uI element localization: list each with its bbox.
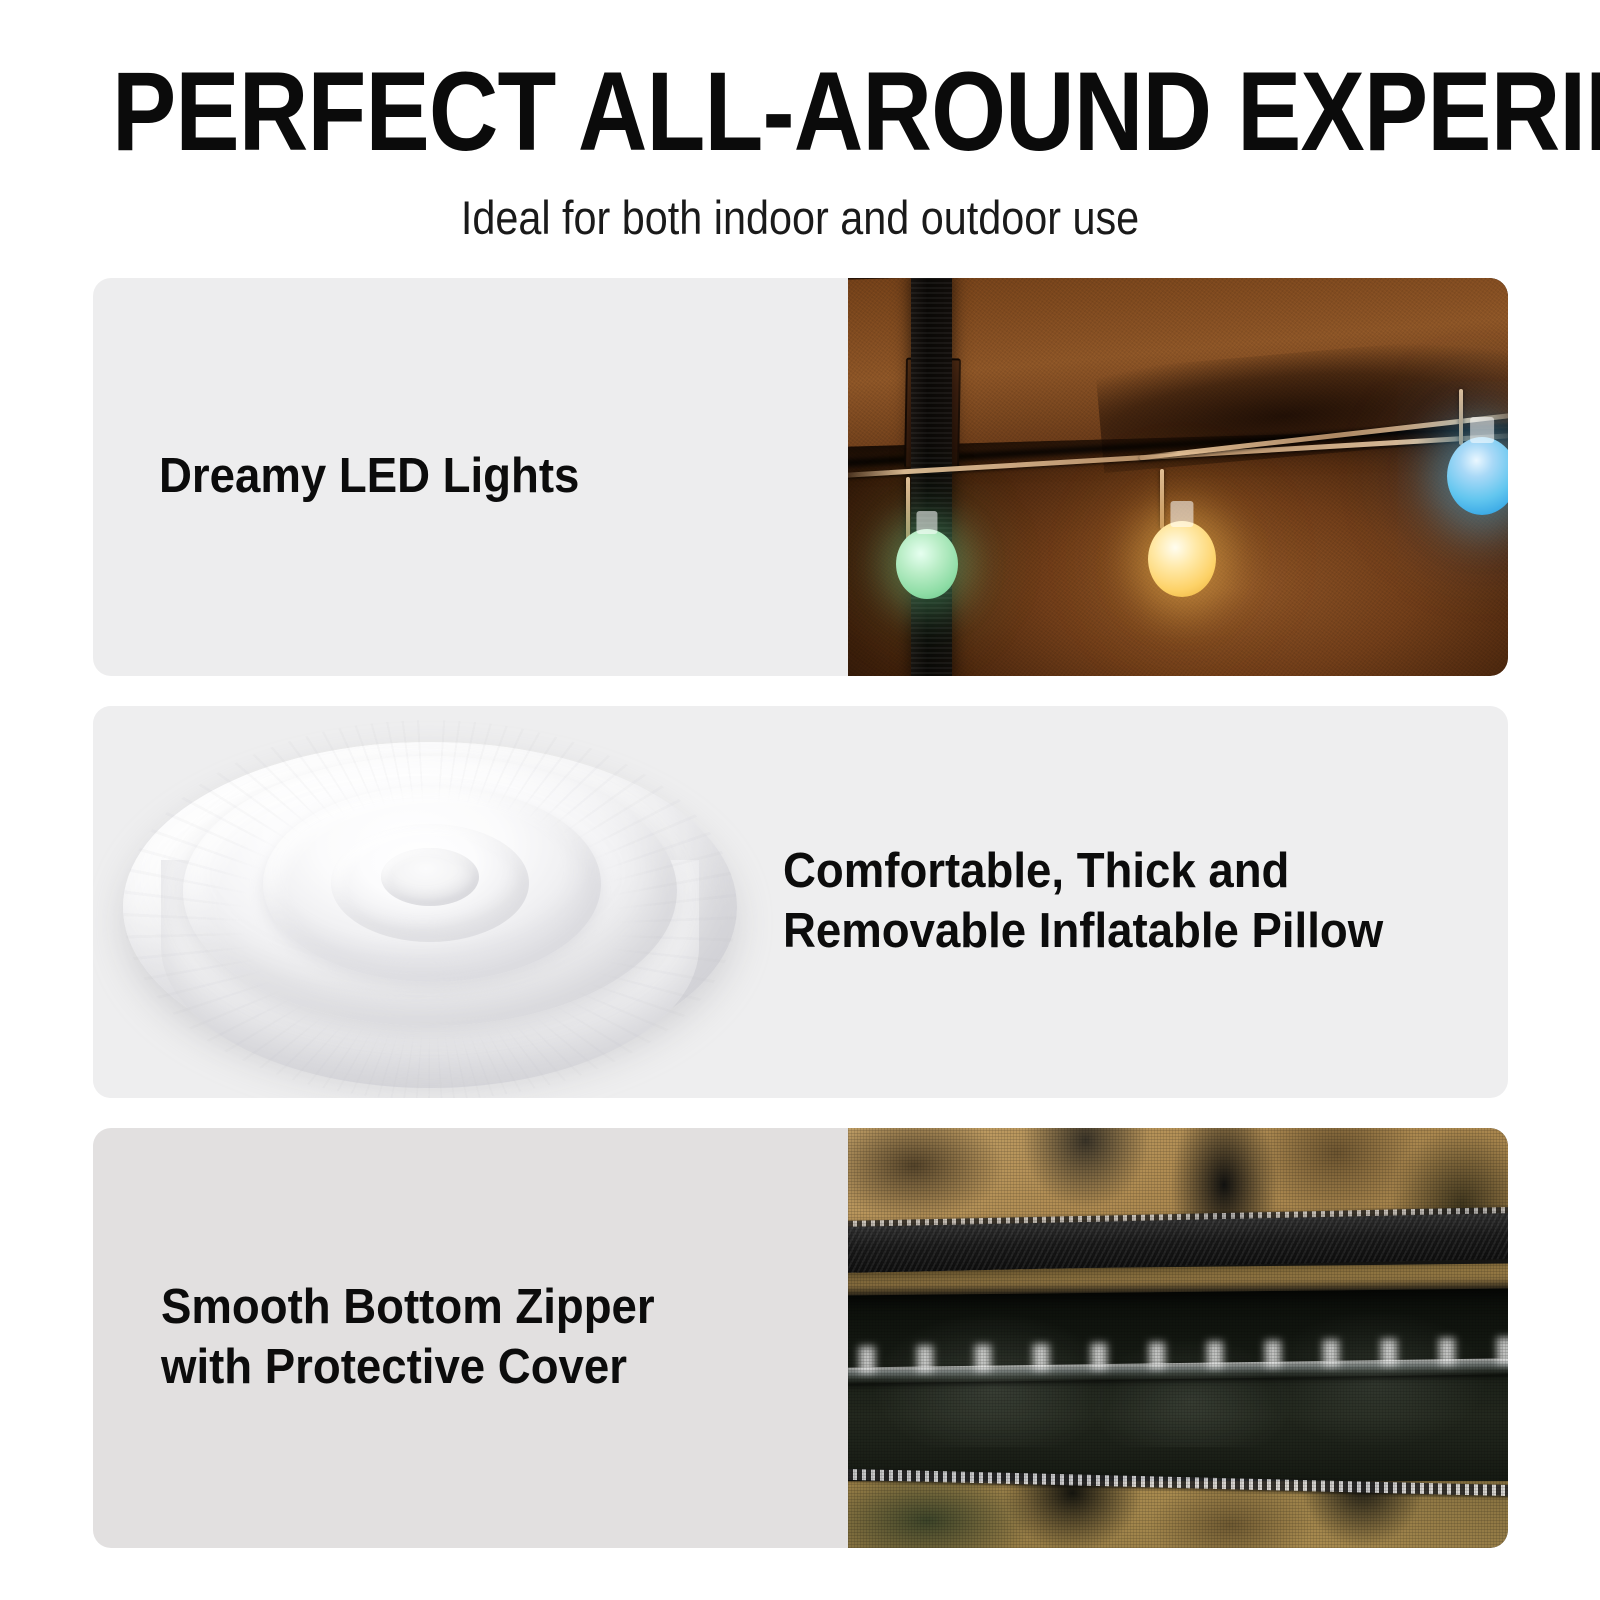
led-string-lights-photo <box>848 278 1508 676</box>
infographic-page: PERFECT ALL-AROUND EXPERIENCE Ideal for … <box>0 0 1600 1600</box>
pillow-scene <box>93 706 793 1098</box>
header: PERFECT ALL-AROUND EXPERIENCE Ideal for … <box>0 0 1600 245</box>
fabric-weave-texture <box>848 1128 1508 1548</box>
led-scene <box>848 278 1508 676</box>
blue-bulb <box>1447 437 1508 515</box>
bulb-lead-blue <box>1459 389 1463 445</box>
feature-panel-led-lights: Dreamy LED Lights <box>93 278 1508 676</box>
page-subtitle: Ideal for both indoor and outdoor use <box>96 190 1504 245</box>
feature-panel-inflatable-pillow: Comfortable, Thick and Removable Inflata… <box>93 706 1508 1098</box>
green-bulb <box>896 529 958 599</box>
zipper-scene <box>848 1128 1508 1548</box>
yellow-bulb <box>1148 521 1216 597</box>
pillow-center-dimple <box>381 848 479 906</box>
feature-text-wrap-zipper: Smooth Bottom Zipper with Protective Cov… <box>161 1128 801 1548</box>
pillow-shape <box>123 720 737 1098</box>
page-title: PERFECT ALL-AROUND EXPERIENCE <box>112 0 1488 168</box>
feature-text-wrap-pillow: Comfortable, Thick and Removable Inflata… <box>783 706 1483 1098</box>
black-strap <box>911 278 952 676</box>
inflatable-pillow-photo <box>93 706 793 1098</box>
bottom-zipper-photo <box>848 1128 1508 1548</box>
bulb-lead-yellow <box>1160 469 1164 529</box>
bulb-lead-green <box>906 477 910 541</box>
feature-label-bottom-zipper: Smooth Bottom Zipper with Protective Cov… <box>161 1278 655 1398</box>
feature-panel-bottom-zipper: Smooth Bottom Zipper with Protective Cov… <box>93 1128 1508 1548</box>
feature-label-inflatable-pillow: Comfortable, Thick and Removable Inflata… <box>783 842 1383 962</box>
feature-text-wrap-led: Dreamy LED Lights <box>159 278 779 676</box>
feature-label-led-lights: Dreamy LED Lights <box>159 447 579 507</box>
